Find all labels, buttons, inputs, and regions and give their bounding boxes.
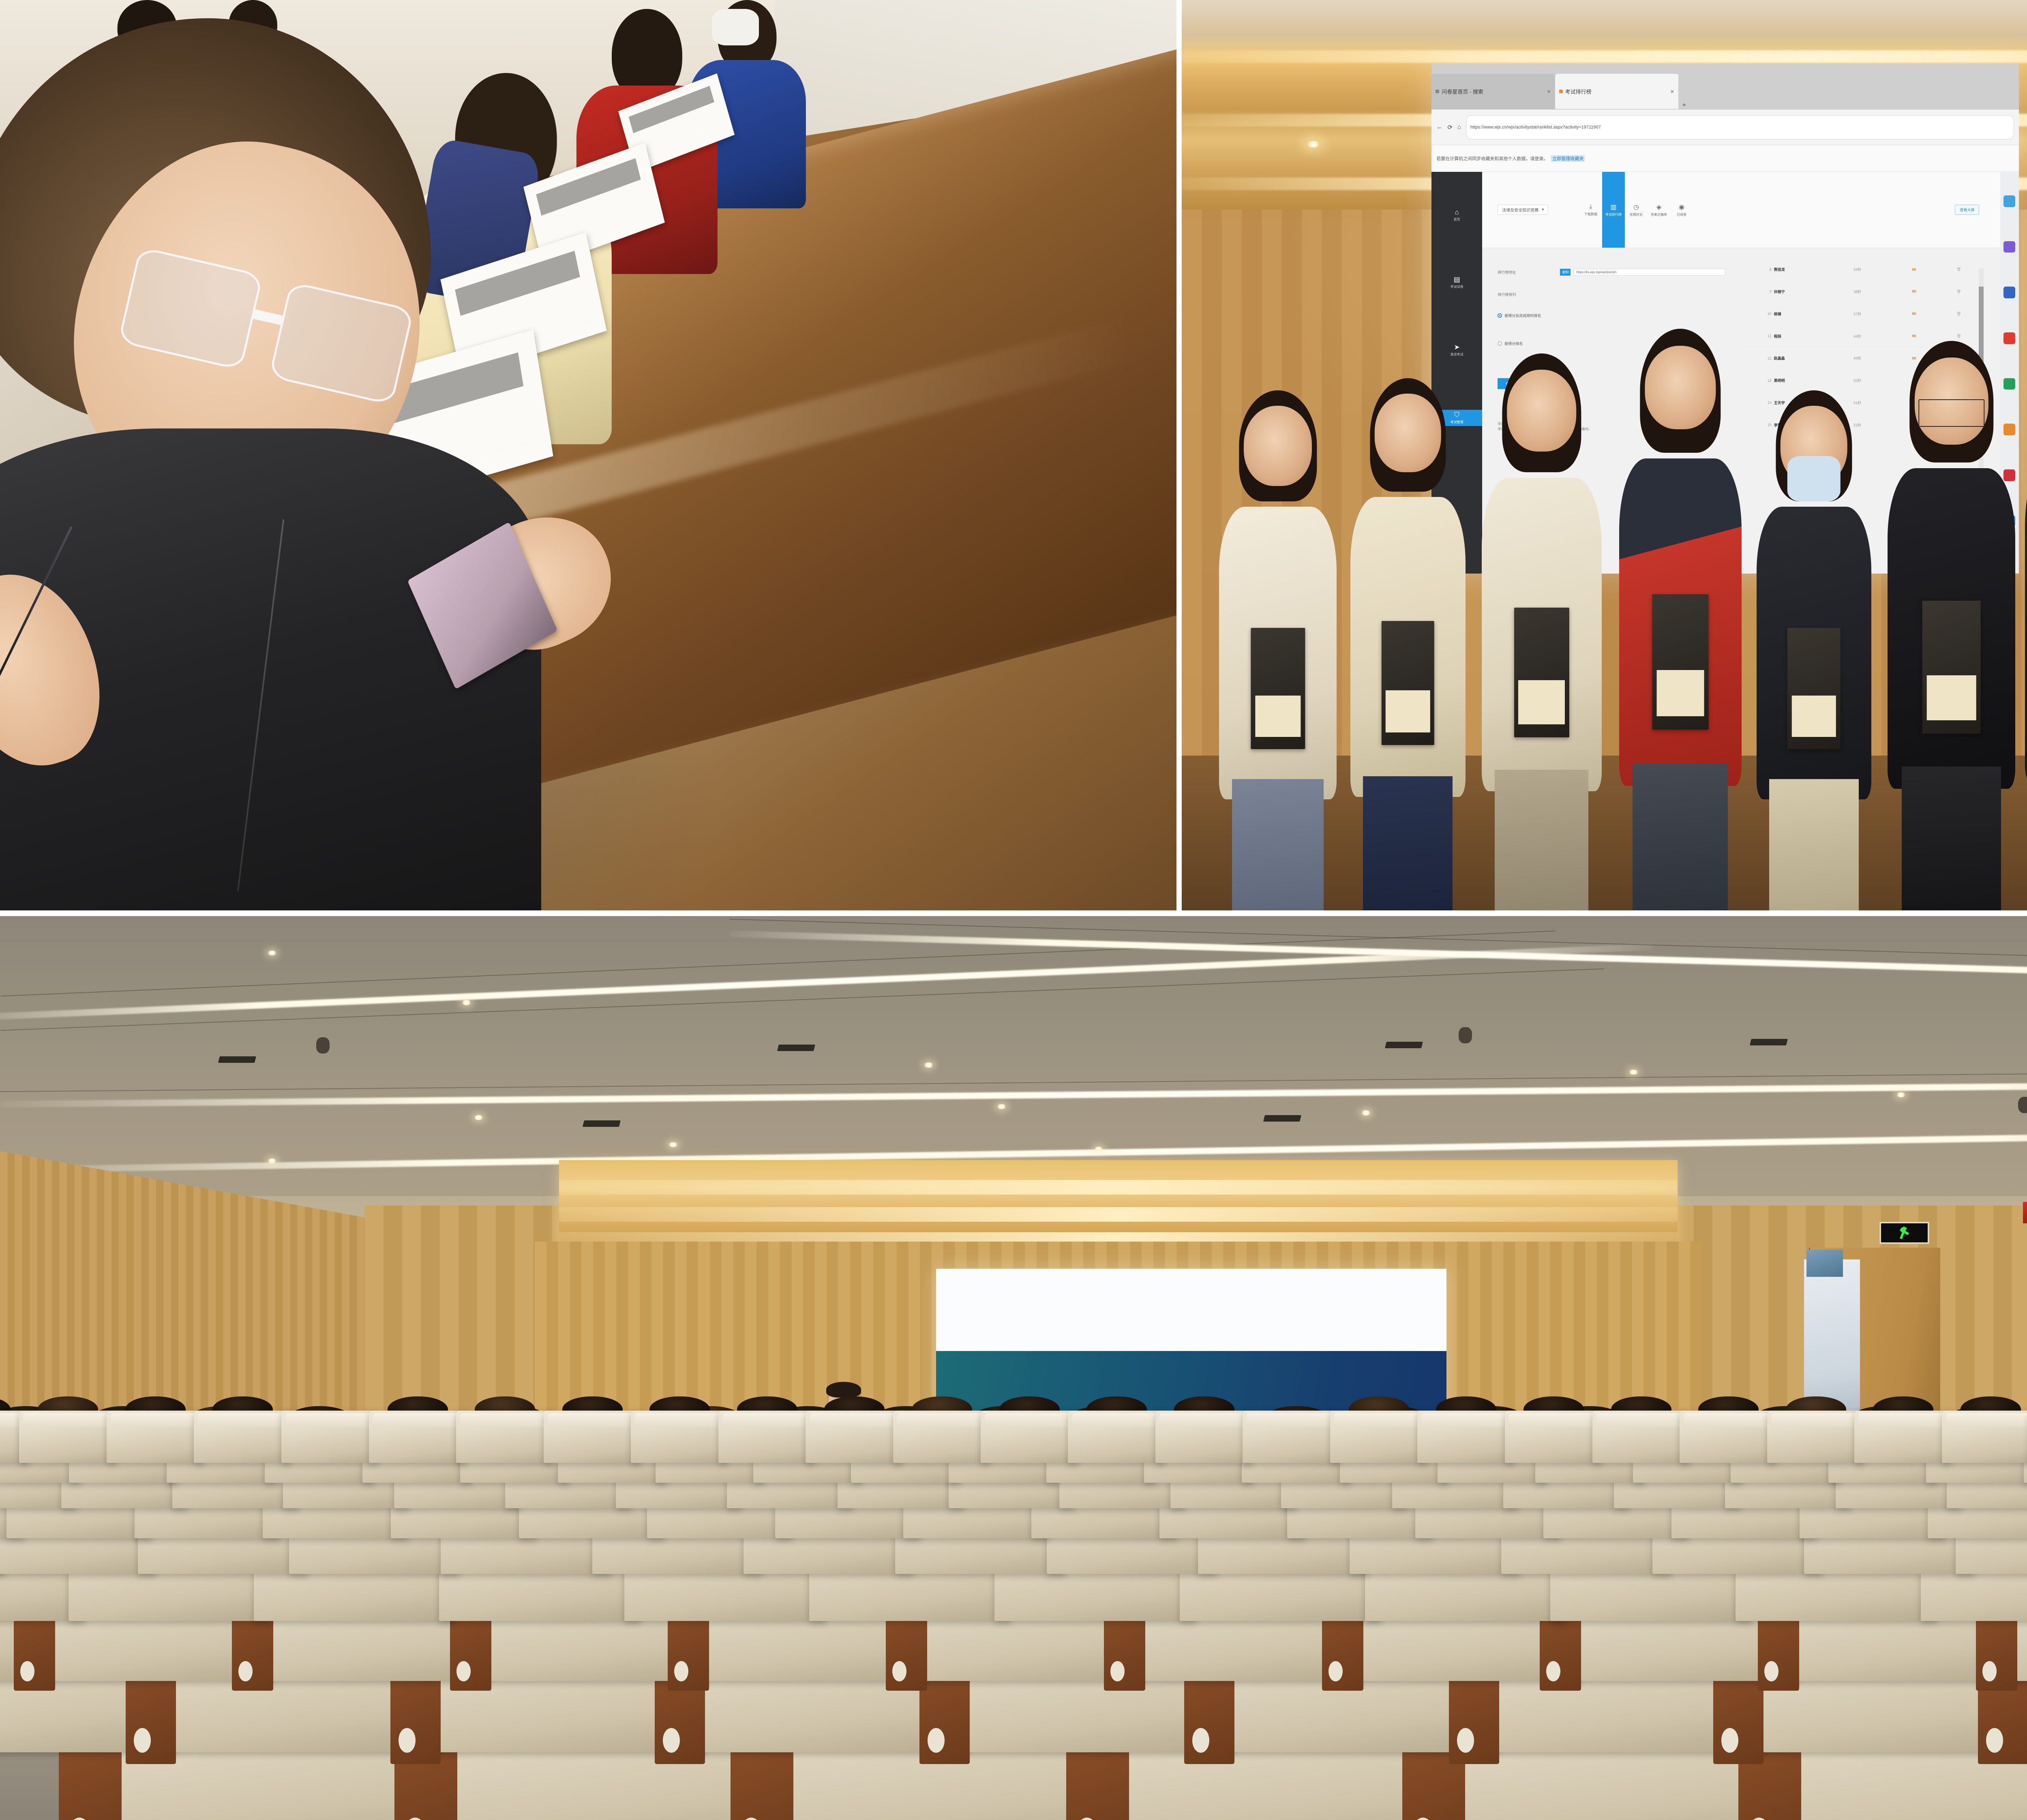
auditorium-seat <box>194 1411 291 1463</box>
auditorium-seat <box>19 1411 116 1463</box>
auditorium-seat <box>1068 1411 1165 1463</box>
sidebar-item-home[interactable]: ⌂ 首页 <box>1431 207 1482 223</box>
notice-link[interactable]: 立即管理收藏夹 <box>1551 155 1585 162</box>
seat-armrest <box>1713 1670 1763 1764</box>
award-photo-panel: 问卷星首页 - 搜索 ✕ 考试排行榜 ✕ + ← ⟳ ⌂ https://www… <box>1182 0 2027 910</box>
view-bigscreen-button[interactable]: 查看大屏 <box>1955 205 1979 215</box>
seat-armrest <box>1449 1670 1499 1764</box>
seat-armrest <box>1184 1670 1234 1764</box>
address-bar[interactable]: https://www.wjx.cn/wjx/activitystat/rank… <box>1466 115 2014 139</box>
auditorium-photo-panel: 民航学院2022级研究生法制以及安全警示教育 大会 2022年11月 <box>0 916 2027 1820</box>
stage-proscenium <box>559 1160 1678 1250</box>
foreground-student <box>0 18 541 910</box>
auditorium-seat <box>631 1411 728 1463</box>
auditorium-seat <box>107 1411 204 1463</box>
close-icon[interactable]: ✕ <box>1670 89 1674 94</box>
back-icon[interactable]: ← <box>1436 124 1442 131</box>
browser-tab-inactive[interactable]: 问卷星首页 - 搜索 ✕ <box>1431 74 1555 109</box>
ranking-row: 8 熊佳龙 34秒 90 🗑 <box>1741 259 1984 281</box>
tab-label: 考试排行榜 <box>1605 212 1622 217</box>
star-icon <box>1559 90 1563 93</box>
ceiling-vent <box>1263 1115 1301 1122</box>
downlight <box>474 1115 483 1120</box>
tab-graded[interactable]: ◉ 已阅卷 <box>1670 172 1693 248</box>
ranking-row: 9 孙丽宁 38秒 90 🗑 <box>1741 281 1984 303</box>
seat-armrest <box>731 1745 793 1820</box>
emergency-exit-sign <box>1879 1222 1929 1244</box>
copy-button[interactable]: 复制 <box>1560 269 1571 276</box>
signing-photo-panel: 民航学院研究生法制及安全承诺书 为进一步弘扬社会主义法治精神，传承中华优秀传统文… <box>0 0 1176 910</box>
auditorium-seat <box>893 1411 990 1463</box>
seat-armrest <box>126 1670 176 1764</box>
ranking-link-input[interactable]: https://ks.wjx.top/wjx/join/ph <box>1574 269 1725 276</box>
seat-armrest <box>1066 1745 1129 1820</box>
seat-armrest <box>14 1613 55 1691</box>
auditorium-seat <box>1854 1411 1952 1463</box>
auditorium-seat <box>1680 1411 1777 1463</box>
auditorium-seat <box>1155 1411 1253 1463</box>
extension-icon[interactable] <box>2003 287 2015 298</box>
search-icon <box>1436 90 1439 93</box>
downlight <box>1361 1110 1371 1115</box>
app-toolbar: 法律及安全知识竞赛 ▾ ⤓ 下载数据 ▥ 考试排行榜 ◷ <box>1482 172 2000 248</box>
seat-armrest <box>1104 1613 1145 1691</box>
recipient <box>1757 406 1872 910</box>
auditorium-seat <box>369 1411 466 1463</box>
seat-armrest <box>1758 1613 1799 1691</box>
tab-label: 已阅卷 <box>1677 212 1686 217</box>
name-value: 熊佳龙 <box>1774 267 1851 272</box>
downlight <box>462 1000 471 1005</box>
ceiling-vent <box>777 1045 815 1051</box>
sidebar-label: 首页 <box>1454 217 1460 222</box>
link-label: 排行榜地址 <box>1498 270 1557 275</box>
ceiling-vent <box>1385 1042 1423 1048</box>
tab-label: 答案正确率 <box>1651 212 1667 217</box>
extension-icon[interactable] <box>2003 241 2015 253</box>
auditorium-seat <box>456 1411 553 1463</box>
tab-accuracy[interactable]: ◈ 答案正确率 <box>1648 172 1670 248</box>
time-value: 34秒 <box>1853 267 1909 272</box>
search-icon[interactable] <box>2003 195 2015 207</box>
chevron-down-icon: ▾ <box>1542 208 1544 212</box>
face-mask <box>712 9 759 45</box>
door-window <box>1806 1250 1843 1277</box>
recipient <box>1888 358 2015 910</box>
score-value: 90 <box>1912 268 1954 272</box>
downlight <box>1094 1147 1103 1152</box>
sort-label: 排行榜排列 <box>1498 292 1557 297</box>
seat-armrest <box>1322 1613 1363 1691</box>
score-value: 90 <box>1912 289 1954 293</box>
home-icon[interactable]: ⌂ <box>1457 124 1461 131</box>
podium-icon: ▥ <box>1610 203 1616 211</box>
auditorium-seat <box>544 1411 641 1463</box>
new-tab-button[interactable]: + <box>1678 102 1690 109</box>
auditorium-seat <box>281 1411 379 1463</box>
recipient <box>1619 346 1742 910</box>
tab-label: 答题时长 <box>1630 212 1643 217</box>
tab-label: 下载数据 <box>1584 212 1597 216</box>
tab-ranking[interactable]: ▥ 考试排行榜 <box>1602 172 1625 248</box>
close-icon[interactable]: ✕ <box>1547 89 1551 94</box>
tab-duration[interactable]: ◷ 答题时长 <box>1625 172 1648 248</box>
survey-select-value: 法律及安全知识竞赛 <box>1502 207 1538 213</box>
seat-armrest <box>668 1613 709 1691</box>
ceiling-speaker <box>316 1037 330 1053</box>
seat-armrest <box>886 1613 927 1691</box>
seat-armrest <box>390 1670 441 1764</box>
browser-tab-active[interactable]: 考试排行榜 ✕ <box>1555 74 1678 109</box>
tab-download-data[interactable]: ⤓ 下载数据 <box>1579 172 1602 248</box>
recipient <box>1482 370 1602 910</box>
downlight <box>924 1062 933 1067</box>
fire-extinguisher <box>2023 1202 2027 1224</box>
recipient <box>1350 394 1466 910</box>
ceiling-vent <box>583 1120 621 1127</box>
browser-tab-label: 问卷星首页 - 搜索 <box>1442 88 1483 95</box>
ceiling-vent <box>218 1056 256 1063</box>
ranking-link-row: 排行榜地址 复制 https://ks.wjx.top/wjx/join/ph <box>1498 269 1725 276</box>
recipient <box>2025 340 2027 910</box>
auditorium-seat <box>981 1411 1078 1463</box>
downlight <box>997 1104 1006 1109</box>
browser-tab-label: 考试排行榜 <box>1565 88 1592 95</box>
browser-sync-notice: 若要在计算机之间同步收藏夹和其他个人数据，请登录。 立即管理收藏夹 <box>1431 145 2019 171</box>
sidebar-label: 考试试卷 <box>1451 285 1463 289</box>
browser-tabstrip: 问卷星首页 - 搜索 ✕ 考试排行榜 ✕ + <box>1431 64 2019 109</box>
slide-top-band <box>936 1269 1446 1351</box>
ceiling-speaker <box>2018 1097 2027 1113</box>
browser-toolbar: ← ⟳ ⌂ https://www.wjx.cn/wjx/activitysta… <box>1431 109 2019 145</box>
notice-text: 若要在计算机之间同步收藏夹和其他个人数据，请登录。 <box>1436 155 1548 162</box>
recipient <box>1219 406 1337 910</box>
app-tab-row: ⤓ 下载数据 ▥ 考试排行榜 ◷ 答题时长 ◈ <box>1579 172 1693 248</box>
photo-collage: 民航学院研究生法制及安全承诺书 为进一步弘扬社会主义法治精神，传承中华优秀传统文… <box>0 0 2027 1820</box>
auditorium-seat <box>1243 1411 1340 1463</box>
refresh-icon[interactable]: ⟳ <box>1447 124 1453 131</box>
home-icon: ⌂ <box>1455 209 1459 216</box>
auditorium-seat <box>1505 1411 1602 1463</box>
downlight <box>1307 141 1320 148</box>
auditorium-seat <box>1942 1411 2027 1463</box>
cove-light <box>1182 50 2027 63</box>
rank-value: 9 <box>1741 289 1772 293</box>
time-value: 38秒 <box>1853 289 1909 294</box>
seat-armrest <box>1976 1613 2017 1691</box>
target-icon: ◈ <box>1656 203 1661 211</box>
seat-armrest <box>59 1745 122 1820</box>
auditorium-seat <box>1592 1411 1690 1463</box>
name-value: 孙丽宁 <box>1774 289 1851 294</box>
seat-armrest <box>1540 1613 1581 1691</box>
award-recipients <box>1182 310 2027 910</box>
rank-value: 8 <box>1741 268 1772 272</box>
clock-icon: ◷ <box>1633 203 1639 211</box>
downlight <box>669 1142 678 1147</box>
seat-armrest <box>450 1613 491 1691</box>
check-icon: ◉ <box>1679 203 1684 211</box>
sort-label-row: 排行榜排列 <box>1498 292 1725 297</box>
ceiling-speaker <box>1459 1027 1472 1043</box>
sidebar-item-exam-paper[interactable]: ▤ 考试试卷 <box>1431 274 1482 291</box>
auditorium-seat <box>1330 1411 1427 1463</box>
running-man-icon <box>1881 1223 1928 1243</box>
auditorium-seat <box>718 1411 816 1463</box>
seat-armrest <box>232 1613 273 1691</box>
downlight <box>268 1158 277 1163</box>
auditorium-seat <box>806 1411 903 1463</box>
auditorium-seat <box>1767 1411 1864 1463</box>
ceiling-vent <box>1750 1039 1788 1045</box>
download-icon: ⤓ <box>1589 203 1592 211</box>
auditorium-seat <box>1417 1411 1515 1463</box>
survey-select[interactable]: 法律及安全知识竞赛 ▾ <box>1498 205 1548 215</box>
exam-icon: ▤ <box>1454 276 1460 283</box>
